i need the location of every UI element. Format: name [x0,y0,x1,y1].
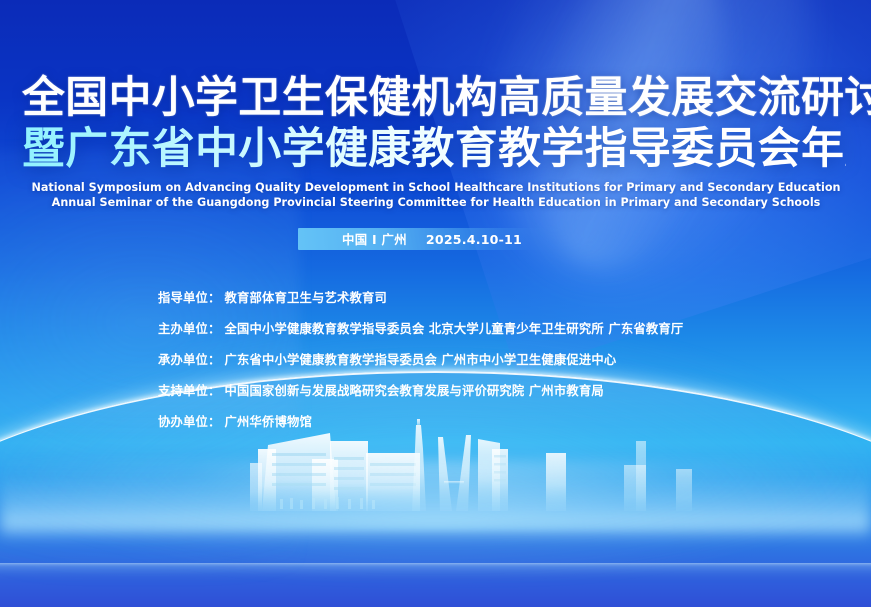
venue-location: 中国 I 广州 [342,230,407,248]
organizer-credits: 指导单位： 教育部体育卫生与艺术教育司 主办单位： 全国中小学健康教育教学指导委… [158,288,798,443]
venue-date-text: 中国 I 广州 2025.4.10-11 [342,230,522,248]
organizer-row: 协办单位： 广州华侨博物馆 [158,412,798,430]
organizer-row: 主办单位： 全国中小学健康教育教学指导委员会 北京大学儿童青少年卫生研究所 广东… [158,319,798,337]
subtitle-english-line-2: Annual Seminar of the Guangdong Provinci… [22,196,850,211]
venue-date-bar: 中国 I 广州 2025.4.10-11 [298,228,560,250]
organizer-row: 承办单位： 广东省中小学健康教育教学指导委员会 广州市中小学卫生健康促进中心 [158,350,798,368]
subtitle-english-line-1: National Symposium on Advancing Quality … [22,181,850,196]
organizer-value: 教育部体育卫生与艺术教育司 [225,288,387,306]
organizer-label: 指导单位： [158,288,221,306]
organizer-label: 协办单位： [158,412,221,430]
organizer-value: 广东省中小学健康教育教学指导委员会 广州市中小学卫生健康促进中心 [225,350,617,368]
organizer-label: 承办单位： [158,350,221,368]
conference-poster: 全国中小学卫生保健机构高质量发展交流研讨活动 暨广东省中小学健康教育教学指导委员… [0,0,871,607]
organizer-label: 支持单位： [158,381,221,399]
title-line-1: 全国中小学卫生保健机构高质量发展交流研讨活动 [22,74,846,123]
organizer-label: 主办单位： [158,319,221,337]
organizer-value: 全国中小学健康教育教学指导委员会 北京大学儿童青少年卫生研究所 广东省教育厅 [225,319,684,337]
organizer-value: 广州华侨博物馆 [225,412,312,430]
organizer-row: 支持单位： 中国国家创新与发展战略研究会教育发展与评价研究院 广州市教育局 [158,381,798,399]
organizer-value: 中国国家创新与发展战略研究会教育发展与评价研究院 广州市教育局 [225,381,604,399]
title-line-2: 暨广东省中小学健康教育教学指导委员会年度研讨活动 [22,125,846,174]
venue-date: 2025.4.10-11 [426,232,522,247]
subtitle-english: National Symposium on Advancing Quality … [22,181,850,210]
headline-block: 全国中小学卫生保健机构高质量发展交流研讨活动 暨广东省中小学健康教育教学指导委员… [22,74,850,210]
organizer-row: 指导单位： 教育部体育卫生与艺术教育司 [158,288,798,306]
